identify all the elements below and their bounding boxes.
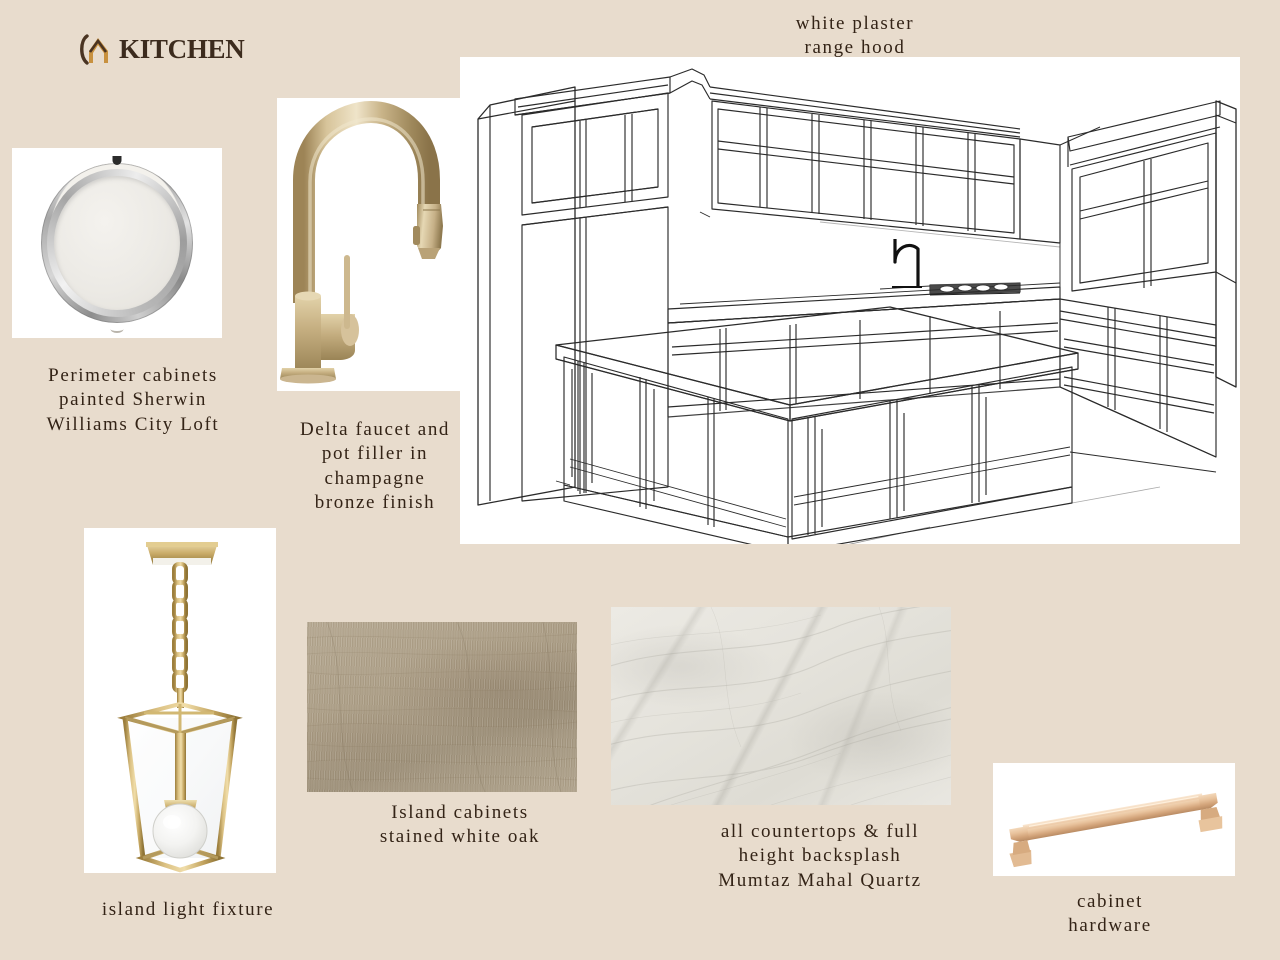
caption-line: Perimeter cabinets	[4, 364, 262, 388]
caption-perimeter-cabinets: Perimeter cabinets painted Sherwin Willi…	[4, 364, 262, 437]
caption-countertops-quartz: all countertops & full height backsplash…	[655, 820, 985, 893]
mumtaz-mahal-quartz-sample-image	[611, 607, 951, 805]
kitchen-line-drawing	[460, 57, 1240, 544]
white-oak-stain-sample-image	[307, 622, 577, 792]
paint-can-top-nub	[113, 156, 122, 165]
cabinet-pull-drawing	[993, 763, 1235, 876]
caption-island-cabinets: Island cabinets stained white oak	[315, 801, 605, 850]
caption-line: champagne	[275, 467, 475, 491]
faucet-drawing	[277, 98, 465, 391]
brand-logo[interactable]: KITCHEN	[78, 32, 244, 66]
caption-line: hardware	[1015, 914, 1205, 938]
quartz-veining	[611, 607, 951, 805]
caption-line: white plaster	[735, 12, 975, 36]
house-roof-icon	[78, 32, 114, 66]
caption-line: Delta faucet and	[275, 418, 475, 442]
caption-line: Island cabinets	[315, 801, 605, 825]
delta-faucet-image	[277, 98, 465, 391]
caption-line: bronze finish	[275, 491, 475, 515]
design-mood-board: KITCHEN	[0, 0, 1280, 960]
caption-line: Williams City Loft	[4, 413, 262, 437]
wood-grain-lines	[307, 622, 577, 792]
caption-line: painted Sherwin	[4, 388, 262, 412]
caption-line: range hood	[735, 36, 975, 60]
pendant-light-drawing	[84, 528, 276, 873]
caption-delta-faucet: Delta faucet and pot filler in champagne…	[275, 418, 475, 515]
logo-text: KITCHEN	[119, 36, 244, 63]
paint-can-swatch-image	[12, 148, 222, 338]
caption-line: cabinet	[1015, 890, 1205, 914]
caption-range-hood: white plaster range hood	[735, 12, 975, 61]
cabinet-bar-pull-image	[993, 763, 1235, 876]
caption-line: Mumtaz Mahal Quartz	[655, 869, 985, 893]
caption-line: stained white oak	[315, 825, 605, 849]
caption-line: all countertops & full	[655, 820, 985, 844]
paint-can-rim	[41, 163, 193, 323]
caption-island-light-fixture: island light fixture	[48, 898, 328, 922]
caption-cabinet-hardware: cabinet hardware	[1015, 890, 1205, 939]
brass-lantern-pendant-image	[84, 528, 276, 873]
paint-can-bottom-nub	[111, 325, 124, 333]
caption-line: pot filler in	[275, 442, 475, 466]
caption-line: height backsplash	[655, 844, 985, 868]
paint-color-fill	[54, 176, 180, 310]
kitchen-perspective-render	[460, 57, 1240, 544]
